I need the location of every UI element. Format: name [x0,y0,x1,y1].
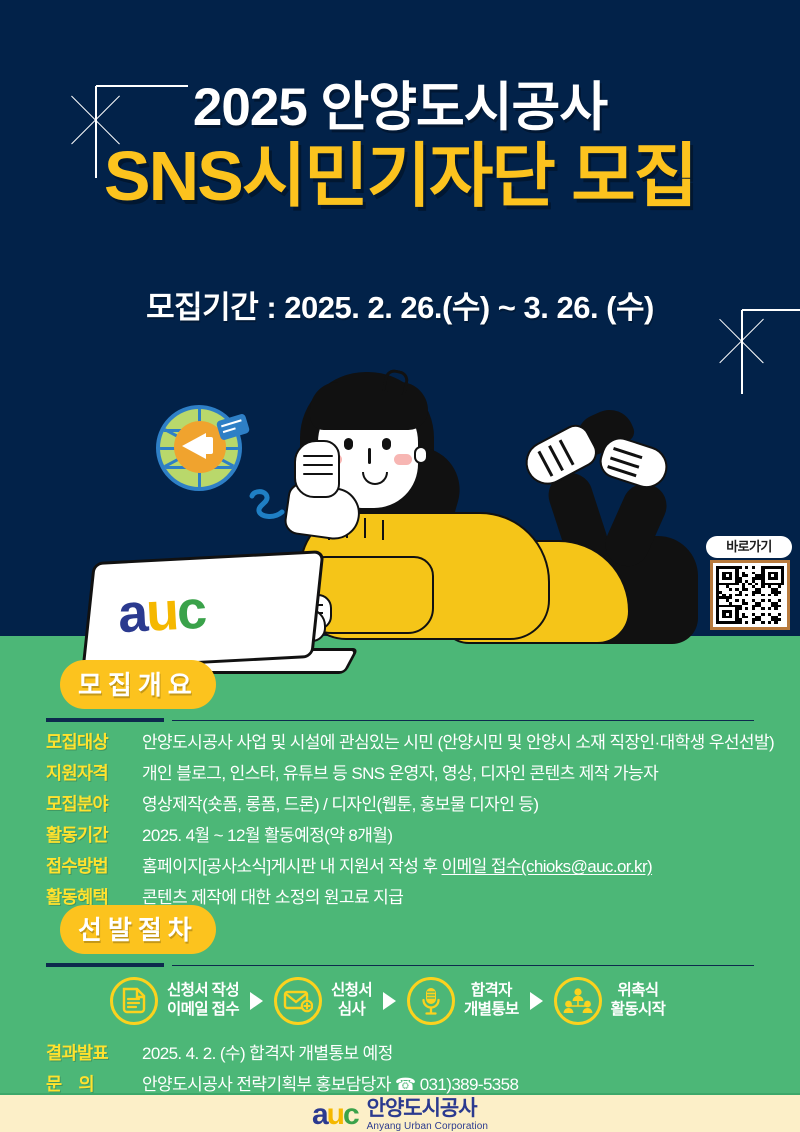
laptop-logo-a: a [117,591,147,638]
overview-rows: 모집대상안양도시공사 사업 및 시설에 관심있는 시민 (안양시민 및 안양시 … [46,728,800,909]
overview-row: 활동기간2025. 4월 ~ 12월 활동예정(약 8개월) [46,821,800,847]
headline-line-2: SNS시민기자단 모집 [0,139,800,213]
laptop-logo-c: c [176,588,206,635]
character-sock-right [595,433,673,494]
overview-row: 지원자격개인 블로그, 인스타, 유튜브 등 SNS 운영자, 영상, 디자인 … [46,759,800,785]
character-nose [368,448,371,464]
headline-line-1: 2025 안양도시공사 [0,78,800,137]
overview-heading: 모집개요 [60,660,216,709]
process-row-value: 2025. 4. 2. (수) 합격자 개별통보 예정 [142,1039,393,1064]
laptop-logo-u: u [145,589,178,636]
process-rows: 결과발표2025. 4. 2. (수) 합격자 개별통보 예정문 의안양도시공사… [46,1039,800,1096]
process-steps: 신청서 작성 이메일 접수신청서 심사합격자 개별통보위촉식 활동시작 [110,977,800,1025]
process-step-label: 신청서 작성 이메일 접수 [167,982,239,1020]
footer-company-name-kr: 안양도시공사 [367,1098,488,1119]
overview-row-value: 홈페이지[공사소식]게시판 내 지원서 작성 후 이메일 접수(chioks@a… [142,852,652,877]
process-row-value: 안양도시공사 전략기획부 홍보담당자 ☎ 031)389-5358 [142,1070,518,1095]
process-step-label: 신청서 심사 [331,982,372,1020]
process-step-label: 합격자 개별통보 [464,982,519,1020]
process-step-label: 위촉식 활동시작 [611,982,666,1020]
laptop-auc-logo: a u c [117,588,206,638]
process-row: 결과발표2025. 4. 2. (수) 합격자 개별통보 예정 [46,1039,800,1065]
overview-row-label: 모집분야 [46,791,142,816]
overview-row-value: 안양도시공사 사업 및 시설에 관심있는 시민 (안양시민 및 안양시 소재 직… [142,728,774,753]
process-heading: 선발절차 [60,905,216,954]
overview-row-value: 영상제작(숏폼, 롱폼, 드론) / 디자인(웹툰, 홍보물 디자인 등) [142,790,538,815]
process-row: 문 의안양도시공사 전략기획부 홍보담당자 ☎ 031)389-5358 [46,1070,800,1096]
overview-row-label: 접수방법 [46,853,142,878]
microphone-icon [407,977,455,1025]
footer-company-name-en: Anyang Urban Corporation [367,1122,488,1132]
qr-code-badge[interactable]: 바로가기 [710,536,790,630]
character-eye-right [382,438,391,450]
character-cheek-right [394,454,412,465]
process-divider [46,963,754,967]
poster: 2025 안양도시공사 SNS시민기자단 모집 모집기간 : 2025. 2. … [0,0,800,1132]
overview-row-value: 개인 블로그, 인스타, 유튜브 등 SNS 운영자, 영상, 디자인 콘텐츠 … [142,759,658,784]
recruitment-period: 모집기간 : 2025. 2. 26.(수) ~ 3. 26. (수) [0,282,800,327]
document-icon [110,977,158,1025]
process-step: 합격자 개별통보 [407,977,519,1025]
overview-row-label: 모집대상 [46,729,142,754]
qr-tag-label: 바로가기 [706,536,792,558]
character-ear [414,446,428,464]
overview-divider [46,718,754,722]
process-row-label: 결과발표 [46,1040,142,1065]
process-step: 신청서 작성 이메일 접수 [110,977,239,1025]
process-step: 위촉식 활동시작 [554,977,666,1025]
hero-illustration: a u c [0,360,800,640]
process-arrow-icon [250,992,263,1010]
overview-row-value: 2025. 4월 ~ 12월 활동예정(약 8개월) [142,821,392,846]
process-row-label: 문 의 [46,1071,142,1096]
footer-logo-a: a [312,1102,327,1128]
qr-code-image[interactable] [710,560,790,630]
footer-logo-u: u [327,1102,343,1128]
envelope-plus-icon [274,977,322,1025]
overview-row-label: 지원자격 [46,760,142,785]
process-arrow-icon [383,992,396,1010]
character-eye-left [344,438,353,450]
overview-row-label: 활동기간 [46,822,142,847]
process-step: 신청서 심사 [274,977,372,1025]
globe-megaphone-icon [156,405,242,491]
character-hair-curl [382,368,410,395]
overview-row: 모집대상안양도시공사 사업 및 시설에 관심있는 시민 (안양시민 및 안양시 … [46,728,800,754]
poster-headline: 2025 안양도시공사 SNS시민기자단 모집 [0,78,800,214]
footer-logo: a u c 안양도시공사 Anyang Urban Corporation [0,1098,800,1132]
overview-row: 접수방법홈페이지[공사소식]게시판 내 지원서 작성 후 이메일 접수(chio… [46,852,800,878]
process-arrow-icon [530,992,543,1010]
process-section: 선발절차 신청서 작성 이메일 접수신청서 심사합격자 개별통보위촉식 활동시작… [0,905,800,1101]
overview-section: 모집개요 모집대상안양도시공사 사업 및 시설에 관심있는 시민 (안양시민 및… [0,660,800,914]
email-application-link[interactable]: 이메일 접수(chioks@auc.or.kr) [442,857,652,876]
character-hand-propping [294,440,340,498]
footer-logo-c: c [343,1102,358,1128]
people-group-icon [554,977,602,1025]
character-hair-fringe [310,382,428,430]
overview-row: 모집분야영상제작(숏폼, 롱폼, 드론) / 디자인(웹툰, 홍보물 디자인 등… [46,790,800,816]
